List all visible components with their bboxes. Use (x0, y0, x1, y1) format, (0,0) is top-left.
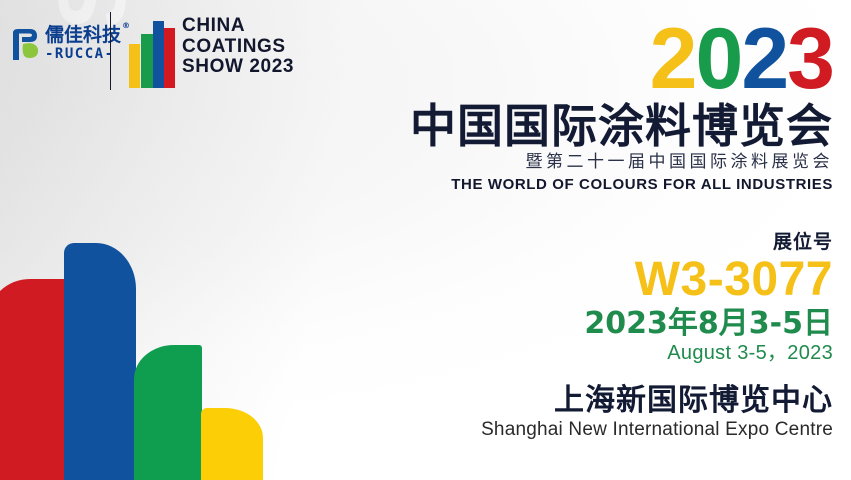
event-date-en: August 3-5，2023 (393, 342, 833, 364)
event-venue-en: Shanghai New International Expo Centre (393, 420, 833, 441)
header-divider (110, 12, 111, 90)
year-digit-2: 0 (695, 18, 741, 101)
exhibition-poster: SHOW COATINGS 儒佳科技 ® -RUCCA- (0, 0, 851, 480)
logo-bar-blue (153, 21, 164, 88)
event-title-cn: 中国国际涂料博览会 (393, 103, 833, 151)
china-coatings-show-logo: CHINA COATINGS SHOW 2023 (128, 16, 294, 88)
logo-line-coatings: COATINGS (182, 37, 294, 58)
poster-main-content: 2023 中国国际涂料博览会 暨第二十一届中国国际涂料展览会 THE WORLD… (393, 0, 833, 440)
china-coatings-show-wordmark: CHINA COATINGS SHOW 2023 (182, 16, 294, 78)
event-venue-cn: 上海新国际博览中心 (393, 384, 833, 417)
year-digit-3: 2 (741, 18, 787, 101)
rucca-r-mark-icon (10, 27, 40, 61)
logo-bar-red (164, 28, 175, 88)
event-date-cn: 2023年8月3-5日 (393, 307, 833, 341)
colored-bars-icon (128, 16, 174, 88)
graphic-bar-yellow (201, 408, 263, 480)
graphic-bar-red (0, 279, 74, 480)
rucca-company-logo: 儒佳科技 ® -RUCCA- (10, 26, 121, 61)
logo-line-show-year: SHOW 2023 (182, 57, 294, 78)
logo-bar-green (141, 34, 153, 88)
poster-header: 儒佳科技 ® -RUCCA- CHINA COATINGS SHOW 2023 (0, 0, 420, 104)
booth-number-label: 展位号 (393, 227, 833, 254)
graphic-bar-green (134, 345, 202, 480)
booth-number-value: W3-3077 (393, 255, 833, 306)
logo-line-china: CHINA (182, 16, 294, 37)
year-digit-4: 3 (787, 18, 833, 101)
graphic-bar-blue (64, 243, 136, 480)
event-subtitle-cn: 暨第二十一届中国国际涂料展览会 (393, 153, 833, 172)
logo-bar-yellow (129, 44, 140, 88)
event-year: 2023 (393, 18, 833, 101)
year-digit-1: 2 (650, 18, 696, 101)
event-tagline-en: THE WORLD OF COLOURS FOR ALL INDUSTRIES (393, 176, 833, 193)
